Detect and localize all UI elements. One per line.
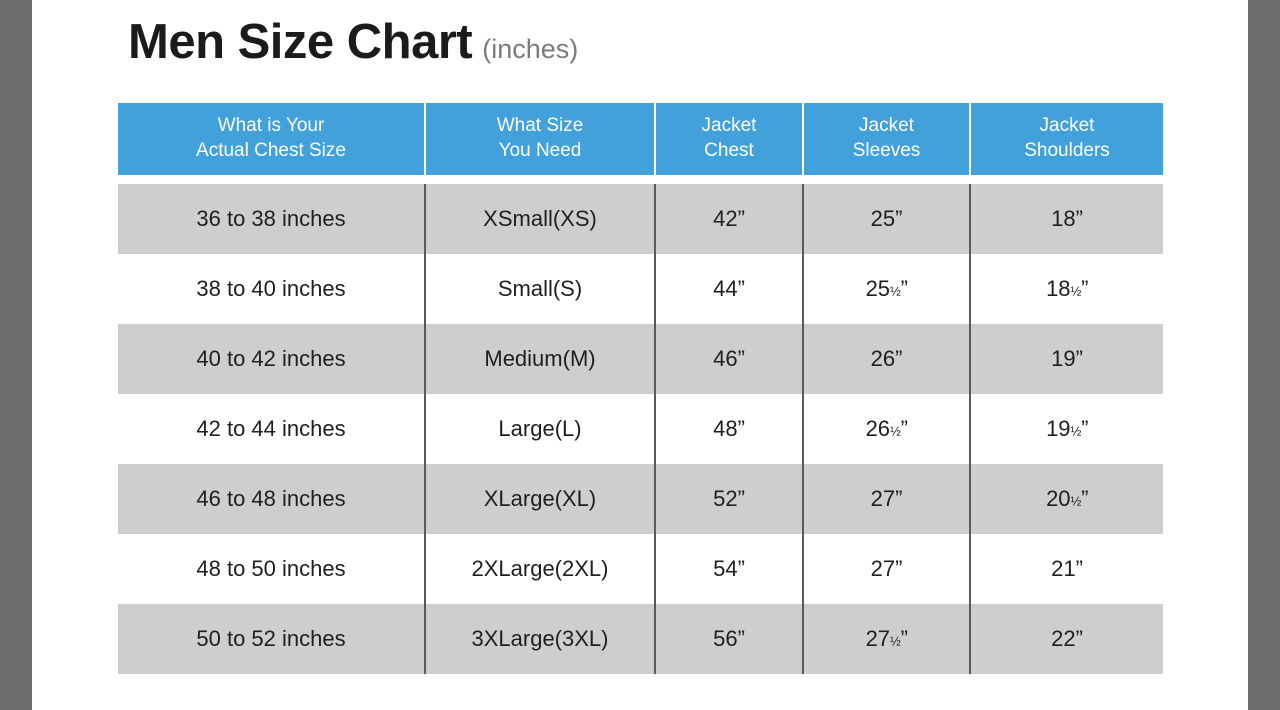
column-header-line-2: Actual Chest Size <box>122 139 420 164</box>
cell-jacket-shoulders: 21” <box>970 534 1163 604</box>
spacer-cell <box>970 175 1163 184</box>
spacer-cell <box>655 175 803 184</box>
table-row[interactable]: 40 to 42 inchesMedium(M)46”26”19” <box>118 324 1163 394</box>
column-header-line-2: Chest <box>660 139 798 164</box>
cell-jacket-chest: 44” <box>655 254 803 324</box>
cell-jacket-shoulders: 20½” <box>970 464 1163 534</box>
cell-size-you-need: 3XLarge(3XL) <box>425 604 655 674</box>
table-row[interactable]: 36 to 38 inchesXSmall(XS)42”25”18” <box>118 184 1163 254</box>
column-header-line-1: Jacket <box>660 114 798 139</box>
inch-mark: ” <box>901 626 908 651</box>
letterbox-bar-right <box>1248 0 1280 710</box>
cell-actual-chest-size: 42 to 44 inches <box>118 394 425 464</box>
cell-jacket-chest: 56” <box>655 604 803 674</box>
cell-size-you-need: Small(S) <box>425 254 655 324</box>
cell-size-you-need: XLarge(XL) <box>425 464 655 534</box>
half-fraction: ½ <box>1071 423 1082 438</box>
spacer-cell <box>803 175 970 184</box>
cell-jacket-shoulders: 19” <box>970 324 1163 394</box>
column-header-line-1: Jacket <box>808 114 965 139</box>
spacer-cell <box>118 175 425 184</box>
table-header: What is YourActual Chest SizeWhat SizeYo… <box>118 103 1163 175</box>
cell-jacket-sleeves: 25” <box>803 184 970 254</box>
cell-actual-chest-size: 36 to 38 inches <box>118 184 425 254</box>
inch-mark: ” <box>1081 416 1088 441</box>
page-title-main: Men Size Chart <box>128 18 472 67</box>
cell-actual-chest-size: 38 to 40 inches <box>118 254 425 324</box>
cell-jacket-chest: 52” <box>655 464 803 534</box>
half-fraction: ½ <box>1071 283 1082 298</box>
cell-jacket-sleeves: 26” <box>803 324 970 394</box>
header-body-spacer <box>118 175 1163 184</box>
column-header-line-2: Sleeves <box>808 139 965 164</box>
column-header-jacket-shoulders[interactable]: JacketShoulders <box>970 103 1163 175</box>
cell-size-you-need: Large(L) <box>425 394 655 464</box>
page-title: Men Size Chart (inches) <box>128 18 578 67</box>
half-fraction: ½ <box>890 283 901 298</box>
cell-jacket-sleeves: 27½” <box>803 604 970 674</box>
spacer-cell <box>425 175 655 184</box>
column-header-actual-chest-size[interactable]: What is YourActual Chest Size <box>118 103 425 175</box>
cell-size-you-need: Medium(M) <box>425 324 655 394</box>
slide-stage: Men Size Chart (inches) What is YourActu… <box>0 0 1280 710</box>
cell-jacket-chest: 46” <box>655 324 803 394</box>
column-header-line-1: What Size <box>430 114 650 139</box>
column-header-line-2: You Need <box>430 139 650 164</box>
cell-jacket-chest: 48” <box>655 394 803 464</box>
cell-jacket-shoulders: 18” <box>970 184 1163 254</box>
cell-size-you-need: XSmall(XS) <box>425 184 655 254</box>
cell-actual-chest-size: 48 to 50 inches <box>118 534 425 604</box>
table-body: 36 to 38 inchesXSmall(XS)42”25”18”38 to … <box>118 175 1163 674</box>
cell-jacket-sleeves: 27” <box>803 464 970 534</box>
letterbox-bar-left <box>0 0 32 710</box>
size-chart-table: What is YourActual Chest SizeWhat SizeYo… <box>118 103 1163 674</box>
cell-actual-chest-size: 46 to 48 inches <box>118 464 425 534</box>
column-header-jacket-chest[interactable]: JacketChest <box>655 103 803 175</box>
inch-mark: ” <box>901 276 908 301</box>
cell-actual-chest-size: 50 to 52 inches <box>118 604 425 674</box>
table-row[interactable]: 50 to 52 inches3XLarge(3XL)56”27½”22” <box>118 604 1163 674</box>
table-row[interactable]: 42 to 44 inchesLarge(L)48”26½”19½” <box>118 394 1163 464</box>
cell-jacket-shoulders: 18½” <box>970 254 1163 324</box>
column-header-line-2: Shoulders <box>975 139 1159 164</box>
inch-mark: ” <box>901 416 908 441</box>
cell-jacket-shoulders: 19½” <box>970 394 1163 464</box>
cell-size-you-need: 2XLarge(2XL) <box>425 534 655 604</box>
cell-jacket-chest: 42” <box>655 184 803 254</box>
table-row[interactable]: 46 to 48 inchesXLarge(XL)52”27”20½” <box>118 464 1163 534</box>
cell-jacket-shoulders: 22” <box>970 604 1163 674</box>
page-title-units: (inches) <box>482 36 578 63</box>
table-header-row: What is YourActual Chest SizeWhat SizeYo… <box>118 103 1163 175</box>
cell-jacket-chest: 54” <box>655 534 803 604</box>
column-header-jacket-sleeves[interactable]: JacketSleeves <box>803 103 970 175</box>
inch-mark: ” <box>1081 276 1088 301</box>
cell-jacket-sleeves: 26½” <box>803 394 970 464</box>
inch-mark: ” <box>1081 486 1088 511</box>
cell-jacket-sleeves: 27” <box>803 534 970 604</box>
table-row[interactable]: 38 to 40 inchesSmall(S)44”25½”18½” <box>118 254 1163 324</box>
half-fraction: ½ <box>890 423 901 438</box>
column-header-size-you-need[interactable]: What SizeYou Need <box>425 103 655 175</box>
half-fraction: ½ <box>890 633 901 648</box>
table-row[interactable]: 48 to 50 inches2XLarge(2XL)54”27”21” <box>118 534 1163 604</box>
half-fraction: ½ <box>1071 493 1082 508</box>
column-header-line-1: Jacket <box>975 114 1159 139</box>
slide-canvas: Men Size Chart (inches) What is YourActu… <box>32 0 1248 710</box>
cell-jacket-sleeves: 25½” <box>803 254 970 324</box>
column-header-line-1: What is Your <box>122 114 420 139</box>
cell-actual-chest-size: 40 to 42 inches <box>118 324 425 394</box>
